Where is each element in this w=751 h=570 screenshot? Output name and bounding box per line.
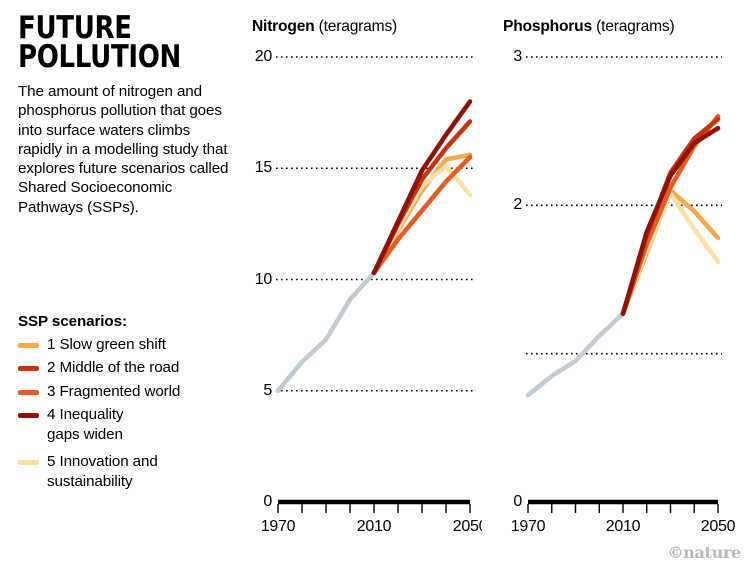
chart-panel-phosphorus: Phosphorus (teragrams) 023197020102050 <box>503 0 739 570</box>
legend-item-ssp4[interactable]: 4 Inequality gaps widen <box>18 405 233 444</box>
chart-panel-nitrogen: Nitrogen (teragrams) 0510152019702010205… <box>252 0 482 570</box>
chart-svg-phosphorus: 023197020102050 <box>503 0 739 570</box>
series-line <box>623 193 718 313</box>
series-line <box>623 191 718 314</box>
y-axis-tick-label: 5 <box>252 378 272 404</box>
y-axis-tick-label: 0 <box>503 489 522 515</box>
series-line <box>623 119 718 313</box>
standfirst-text: The amount of nitrogen and phosphorus po… <box>18 82 233 217</box>
x-axis-tick-label: 2010 <box>589 515 657 539</box>
series-line <box>623 116 718 313</box>
legend: 1 Slow green shift 2 Middle of the road … <box>18 335 233 495</box>
intro-block: Future pollution The amount of nitrogen … <box>18 14 233 217</box>
legend-item-ssp3[interactable]: 3 Fragmented world <box>18 382 233 401</box>
y-axis-tick-label: 15 <box>252 155 272 181</box>
infographic-root: Future pollution The amount of nitrogen … <box>0 0 751 570</box>
y-axis-tick-label: 10 <box>252 267 272 293</box>
legend-item-ssp1[interactable]: 1 Slow green shift <box>18 335 233 354</box>
y-axis-tick-label: 2 <box>503 192 522 218</box>
legend-item-label: 2 Middle of the road <box>47 358 179 377</box>
legend-swatch-icon <box>18 413 39 418</box>
legend-title: SSP scenarios: <box>18 313 127 330</box>
legend-item-label: 5 Innovation and sustainability <box>47 452 158 491</box>
legend-swatch-icon <box>18 343 39 348</box>
y-axis-tick-label: 0 <box>252 489 272 515</box>
chart-svg-nitrogen: 05101520197020102050 <box>252 0 482 570</box>
y-axis-tick-label: 3 <box>503 44 522 70</box>
x-axis-tick-label: 2050 <box>684 515 739 539</box>
legend-swatch-icon <box>18 390 39 395</box>
nature-logo: ©nature <box>667 543 741 562</box>
x-axis-tick-label: 1970 <box>503 515 562 539</box>
legend-item-label: 1 Slow green shift <box>47 335 166 354</box>
y-axis-tick-label: 20 <box>252 44 272 70</box>
x-axis-tick-label: 2050 <box>436 515 482 539</box>
legend-item-label: 3 Fragmented world <box>47 382 180 401</box>
series-line <box>278 273 374 391</box>
legend-swatch-icon <box>18 366 39 371</box>
legend-item-ssp5[interactable]: 5 Innovation and sustainability <box>18 452 233 491</box>
legend-item-ssp2[interactable]: 2 Middle of the road <box>18 358 233 377</box>
legend-swatch-icon <box>18 460 39 465</box>
page-title: Future pollution <box>18 14 199 72</box>
x-axis-tick-label: 1970 <box>252 515 312 539</box>
x-axis-tick-label: 2010 <box>340 515 408 539</box>
legend-item-label: 4 Inequality gaps widen <box>47 405 123 444</box>
